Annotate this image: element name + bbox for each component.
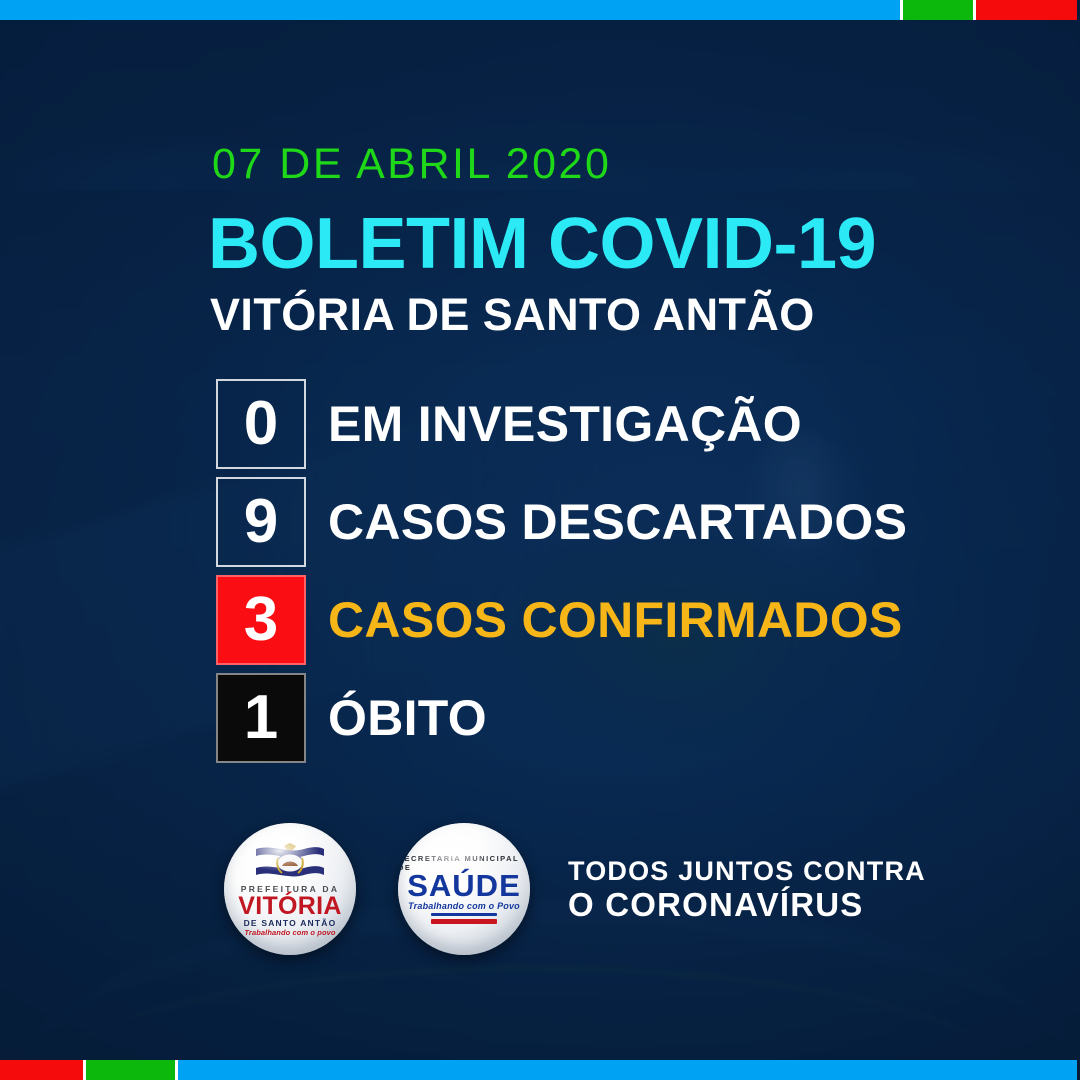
health-logo-blue-bar [431,913,497,916]
covid-bulletin-poster: 07 DE ABRIL 2020 BOLETIM COVID-19 VITÓRI… [0,0,1080,1080]
stat-label: CASOS DESCARTADOS [328,493,907,551]
top-bar-segment-green [900,0,973,20]
top-bar-segment-blue [0,0,900,20]
bottom-bar-segment-blue [175,1060,1077,1080]
stat-row-casos-descartados: 9 CASOS DESCARTADOS [216,473,976,571]
city-logo-line4: Trabalhando com o povo [244,928,335,937]
tagline-line2: O CORONAVÍRUS [568,888,926,921]
statistics-list: 0 EM INVESTIGAÇÃO 9 CASOS DESCARTADOS 3 … [216,375,976,767]
page-title: BOLETIM COVID-19 [208,203,876,285]
bottom-bar-segment-green [83,1060,175,1080]
stat-label: ÓBITO [328,689,487,747]
stat-label: EM INVESTIGAÇÃO [328,395,802,453]
tagline-line1: TODOS JUNTOS CONTRA [568,858,926,885]
health-logo-line3: Trabalhando com o Povo [408,901,520,911]
page-subtitle: VITÓRIA DE SANTO ANTÃO [210,289,815,341]
bulletin-date: 07 DE ABRIL 2020 [212,140,611,189]
stat-row-em-investigacao: 0 EM INVESTIGAÇÃO [216,375,976,473]
stat-row-casos-confirmados: 3 CASOS CONFIRMADOS [216,571,976,669]
bottom-bar-segment-red [0,1060,83,1080]
bottom-color-bar [0,1060,1080,1080]
footer-logos-block: PREFEITURA DA VITÓRIA DE SANTO ANTÃO Tra… [224,823,926,955]
stat-value-box: 3 [216,575,306,665]
stat-value-box: 1 [216,673,306,763]
city-logo-line2: VITÓRIA [238,894,342,918]
stat-row-obito: 1 ÓBITO [216,669,976,767]
health-department-logo: SECRETARIA MUNICIPAL DE SAÚDE Trabalhand… [398,823,530,955]
health-logo-red-bar [431,919,497,924]
city-hall-logo: PREFEITURA DA VITÓRIA DE SANTO ANTÃO Tra… [224,823,356,955]
top-color-bar [0,0,1080,20]
stat-value-box: 9 [216,477,306,567]
campaign-tagline: TODOS JUNTOS CONTRA O CORONAVÍRUS [568,858,926,921]
city-flag-emblem-icon [252,842,328,882]
stat-label: CASOS CONFIRMADOS [328,591,903,649]
stat-value-box: 0 [216,379,306,469]
health-logo-line2: SAÚDE [407,872,521,901]
top-bar-segment-red [973,0,1077,20]
city-logo-line3: DE SANTO ANTÃO [244,918,337,928]
